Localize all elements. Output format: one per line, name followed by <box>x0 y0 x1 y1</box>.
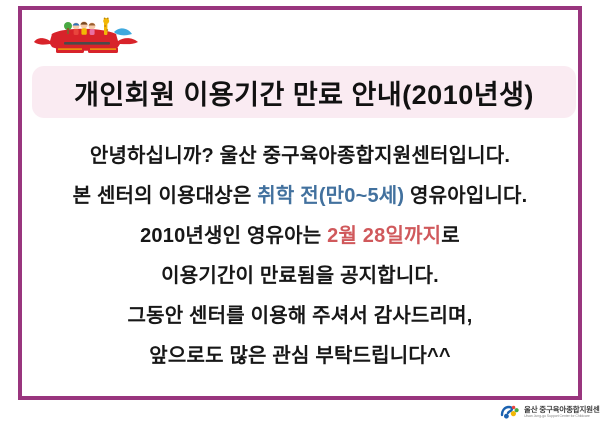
notice-line-3-segment-2: 2월 28일까지 <box>327 225 441 247</box>
notice-line-4-segment-1: 이용기간이 만료됨을 공지합니다. <box>161 265 439 287</box>
notice-line-4: 이용기간이 만료됨을 공지합니다. <box>22 256 578 296</box>
notice-line-2-segment-3: 영유아입니다. <box>404 185 527 207</box>
notice-line-6-segment-1: 앞으로도 많은 관심 부탁드립니다^^ <box>149 345 450 367</box>
footer-text: 울산 중구육아종합지원센터 Ulsan Jung-gu Support Cent… <box>524 406 600 419</box>
footer-org-name: 울산 중구육아종합지원센터 <box>524 406 600 414</box>
notice-line-2: 본 센터의 이용대상은 취학 전(만0~5세) 영유아입니다. <box>22 176 578 216</box>
notice-line-6: 앞으로도 많은 관심 부탁드립니다^^ <box>22 336 578 376</box>
ulsan-junggu-logo-icon <box>500 404 520 420</box>
notice-line-1: 안녕하십니까? 울산 중구육아종합지원센터입니다. <box>22 136 578 176</box>
notice-line-1-segment-1: 안녕하십니까? 울산 중구육아종합지원센터입니다. <box>90 145 510 167</box>
page-title: 개인회원 이용기간 만료 안내(2010년생) <box>74 73 534 112</box>
footer-logo: 울산 중구육아종합지원센터 Ulsan Jung-gu Support Cent… <box>500 403 596 421</box>
notice-frame: 개인회원 이용기간 만료 안내(2010년생) 안녕하십니까? 울산 중구육아종… <box>18 6 582 400</box>
center-mascot-logo <box>28 14 146 62</box>
notice-body: 안녕하십니까? 울산 중구육아종합지원센터입니다. 본 센터의 이용대상은 취학… <box>22 136 578 376</box>
title-banner: 개인회원 이용기간 만료 안내(2010년생) <box>32 66 576 118</box>
footer-org-subtitle: Ulsan Jung-gu Support Center for Childca… <box>524 415 600 419</box>
notice-line-5: 그동안 센터를 이용해 주셔서 감사드리며, <box>22 296 578 336</box>
notice-line-2-segment-2: 취학 전(만0~5세) <box>257 185 404 207</box>
notice-line-3: 2010년생인 영유아는 2월 28일까지로 <box>22 216 578 256</box>
notice-line-3-segment-1: 2010년생인 영유아는 <box>140 225 327 247</box>
notice-line-2-segment-1: 본 센터의 이용대상은 <box>73 185 258 207</box>
notice-line-5-segment-1: 그동안 센터를 이용해 주셔서 감사드리며, <box>128 305 473 327</box>
notice-line-3-segment-3: 로 <box>441 225 460 247</box>
